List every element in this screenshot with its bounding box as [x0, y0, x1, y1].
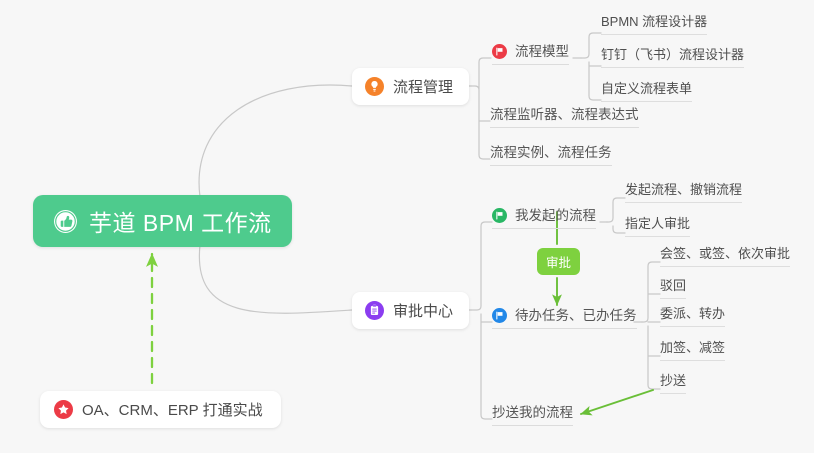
flag-icon — [492, 44, 507, 59]
edge-initiated-trunk — [607, 198, 625, 233]
leaf-label-delegate-transfer: 委派、转办 — [660, 307, 725, 321]
bottom-note-label: OA、CRM、ERP 打通实战 — [82, 399, 263, 420]
node-label-cc-my-process: 抄送我的流程 — [492, 406, 573, 420]
branch-label-process-management: 流程管理 — [393, 76, 453, 97]
node-label-my-initiated-process: 我发起的流程 — [515, 209, 596, 223]
node-label-process-listener-expression: 流程监听器、流程表达式 — [490, 108, 639, 122]
leaf-countersign-or-sequential[interactable]: 会签、或签、依次审批 — [660, 244, 790, 267]
leaf-label-assignee-approval: 指定人审批 — [625, 217, 690, 231]
node-my-initiated-process[interactable]: 我发起的流程 — [492, 204, 596, 229]
leaf-label-start-cancel-process: 发起流程、撤销流程 — [625, 183, 742, 197]
thumbs-up-icon — [53, 209, 78, 234]
edge-root-to-process-management — [199, 85, 352, 197]
arrow-cc-to-cc-process — [581, 390, 653, 414]
flag-icon — [492, 308, 507, 323]
leaf-start-cancel-process[interactable]: 发起流程、撤销流程 — [625, 180, 742, 203]
node-process-model[interactable]: 流程模型 — [492, 40, 569, 65]
leaf-dingtalk-feishu-designer[interactable]: 钉钉（飞书）流程设计器 — [601, 45, 744, 68]
leaf-add-remove-sign[interactable]: 加签、减签 — [660, 338, 725, 361]
branch-node-process-management[interactable]: 流程管理 — [352, 68, 469, 105]
leaf-carbon-copy[interactable]: 抄送 — [660, 371, 686, 394]
leaf-label-bpmn-designer: BPMN 流程设计器 — [601, 15, 707, 29]
edge-todo-trunk — [642, 262, 660, 389]
root-label: 芋道 BPM 工作流 — [89, 204, 272, 238]
node-process-listener-expression[interactable]: 流程监听器、流程表达式 — [490, 103, 639, 128]
node-label-process-model: 流程模型 — [515, 45, 569, 59]
mindmap-canvas: 芋道 BPM 工作流 流程管理 流程模型 BPMN 流程设计器 钉钉（飞书 — [0, 0, 814, 453]
edge-root-to-approval-center — [199, 245, 352, 313]
leaf-reject[interactable]: 驳回 — [660, 276, 686, 299]
root-node[interactable]: 芋道 BPM 工作流 — [33, 195, 292, 247]
node-cc-my-process[interactable]: 抄送我的流程 — [492, 401, 573, 426]
leaf-label-countersign-or-sequential: 会签、或签、依次审批 — [660, 247, 790, 261]
leaf-label-custom-process-form: 自定义流程表单 — [601, 82, 692, 96]
node-todo-done-tasks[interactable]: 待办任务、已办任务 — [492, 304, 637, 329]
annotation-approval-pill-label: 审批 — [546, 252, 571, 271]
edge-model-trunk — [581, 33, 601, 100]
flag-icon — [492, 208, 507, 223]
branch-label-approval-center: 审批中心 — [393, 300, 453, 321]
lightbulb-icon — [365, 77, 384, 96]
leaf-label-reject: 驳回 — [660, 279, 686, 293]
node-label-todo-done-tasks: 待办任务、已办任务 — [515, 309, 637, 323]
annotation-approval-pill: 审批 — [537, 248, 580, 275]
edge-pm-trunk — [471, 58, 491, 159]
branch-node-approval-center[interactable]: 审批中心 — [352, 292, 469, 329]
bottom-note-node[interactable]: OA、CRM、ERP 打通实战 — [40, 391, 281, 428]
leaf-assignee-approval[interactable]: 指定人审批 — [625, 214, 690, 237]
leaf-custom-process-form[interactable]: 自定义流程表单 — [601, 79, 692, 102]
node-label-process-instance-task: 流程实例、流程任务 — [490, 146, 612, 160]
leaf-bpmn-designer[interactable]: BPMN 流程设计器 — [601, 12, 707, 35]
leaf-label-add-remove-sign: 加签、减签 — [660, 341, 725, 355]
leaf-label-carbon-copy: 抄送 — [660, 374, 686, 388]
leaf-delegate-transfer[interactable]: 委派、转办 — [660, 304, 725, 327]
clipboard-icon — [365, 301, 384, 320]
edge-ac-trunk — [471, 222, 492, 419]
leaf-label-dingtalk-feishu-designer: 钉钉（飞书）流程设计器 — [601, 48, 744, 62]
node-process-instance-task[interactable]: 流程实例、流程任务 — [490, 141, 612, 166]
star-badge-icon — [54, 400, 73, 419]
